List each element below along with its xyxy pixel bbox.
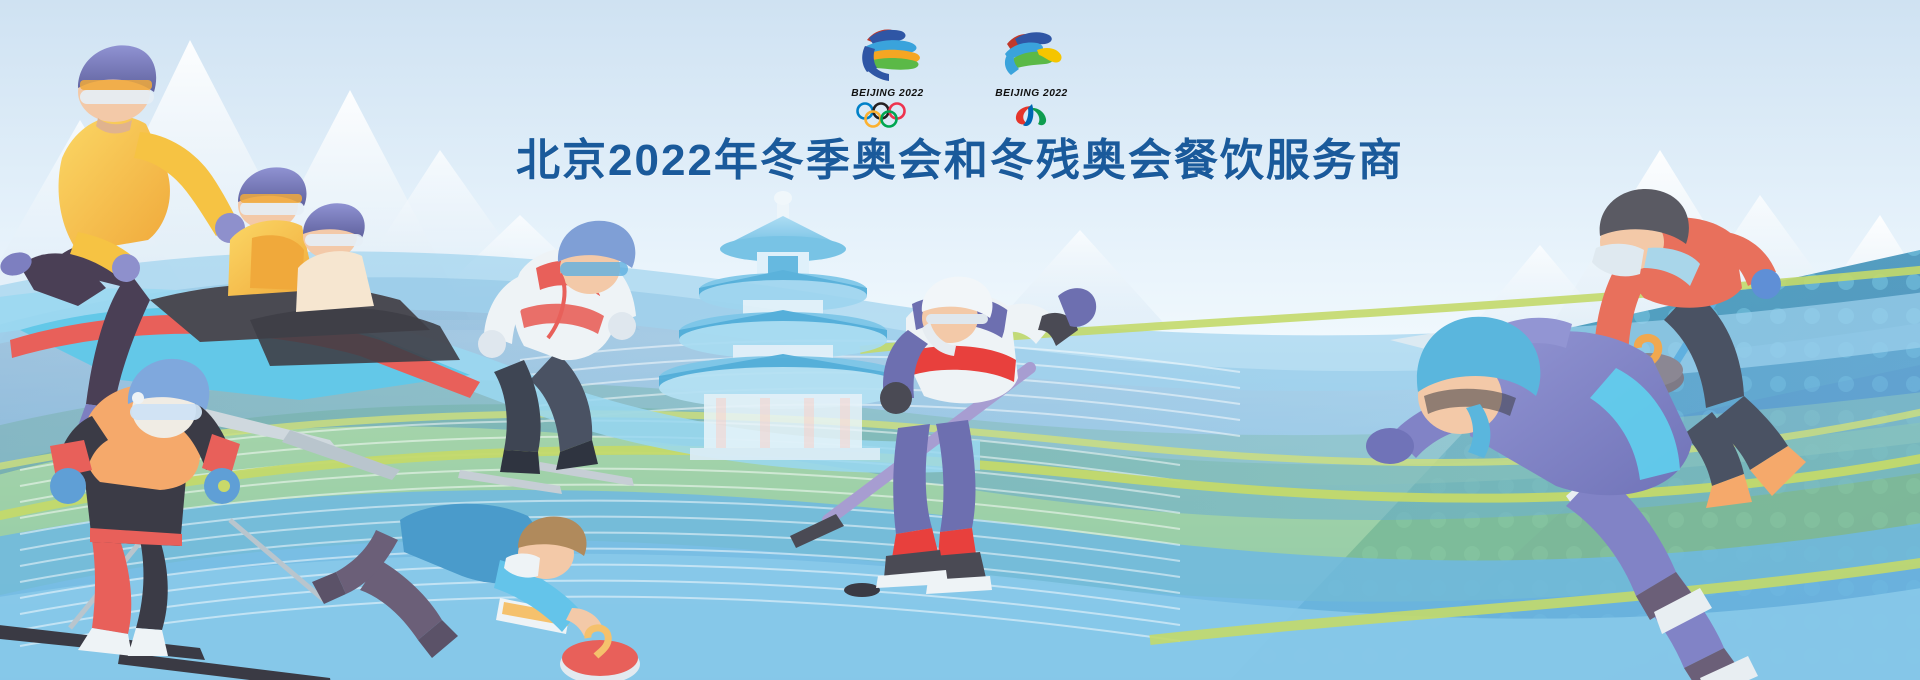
emblem-row: BEIJING 2022: [840, 24, 1080, 128]
curler-sweeper-center: [312, 504, 602, 658]
olympic-emblem-wordmark: BEIJING 2022: [852, 88, 924, 99]
winter-dream-calligraphy-icon: [849, 24, 927, 86]
paralympic-emblem-wordmark: BEIJING 2022: [996, 88, 1068, 99]
temple-of-heaven: [659, 191, 907, 460]
olympic-banner: BEIJING 2022: [0, 0, 1920, 680]
beijing-2022-paralympic-emblem[interactable]: BEIJING 2022: [984, 24, 1080, 128]
beijing-2022-olympic-emblem[interactable]: BEIJING 2022: [840, 24, 936, 128]
page-title: 北京2022年冬季奥会和冬残奥会餐饮服务商: [0, 124, 1920, 188]
cross-country-skier: [0, 359, 332, 680]
speed-skater-center: [458, 221, 636, 494]
curling-stone-red: [560, 628, 640, 680]
flying-high-calligraphy-icon: [993, 24, 1071, 86]
